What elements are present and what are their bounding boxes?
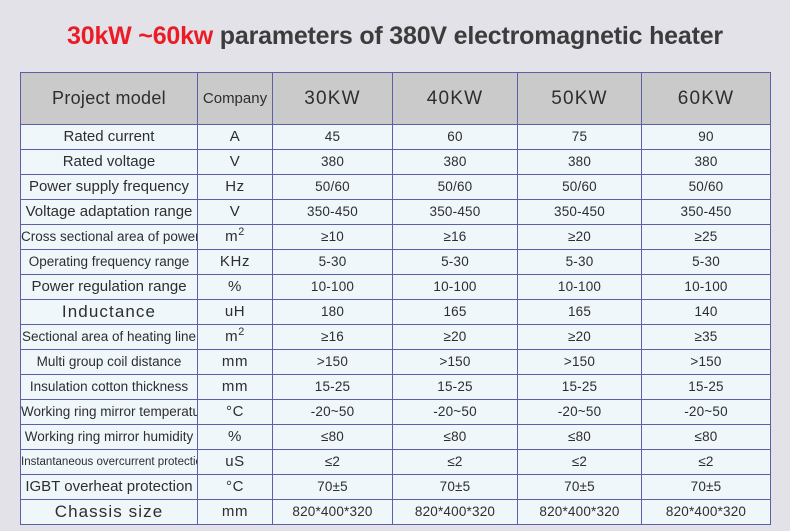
cell-value: 180 bbox=[273, 300, 393, 325]
cell-parameter: Rated current bbox=[21, 125, 198, 150]
table-header: Project model Company 30KW 40KW 50KW 60K… bbox=[21, 73, 771, 125]
cell-value: 165 bbox=[518, 300, 642, 325]
cell-value: 10-100 bbox=[273, 275, 393, 300]
table-row: Rated currentA45607590 bbox=[21, 125, 771, 150]
cell-value: 50/60 bbox=[642, 175, 771, 200]
cell-unit: % bbox=[198, 275, 273, 300]
cell-value: 50/60 bbox=[273, 175, 393, 200]
table-row: Power regulation range%10-10010-10010-10… bbox=[21, 275, 771, 300]
cell-unit: V bbox=[198, 150, 273, 175]
title-bar: 30kW ~60kw parameters of 380V electromag… bbox=[0, 0, 790, 72]
cell-value: -20~50 bbox=[393, 400, 518, 425]
cell-parameter: Working ring mirror temperature bbox=[21, 400, 198, 425]
cell-value: 350-450 bbox=[642, 200, 771, 225]
cell-value: 70±5 bbox=[518, 475, 642, 500]
cell-value: ≤80 bbox=[642, 425, 771, 450]
specifications-table: Project model Company 30KW 40KW 50KW 60K… bbox=[20, 72, 771, 525]
cell-value: 5-30 bbox=[273, 250, 393, 275]
cell-unit: m2 bbox=[198, 325, 273, 350]
header-project-model: Project model bbox=[21, 73, 198, 125]
cell-unit: uS bbox=[198, 450, 273, 475]
cell-value: 50/60 bbox=[518, 175, 642, 200]
cell-value: 45 bbox=[273, 125, 393, 150]
cell-unit: V bbox=[198, 200, 273, 225]
cell-value: ≤2 bbox=[393, 450, 518, 475]
header-model-30kw: 30KW bbox=[273, 73, 393, 125]
cell-value: 820*400*320 bbox=[518, 500, 642, 525]
cell-value: ≥16 bbox=[393, 225, 518, 250]
cell-value: 380 bbox=[393, 150, 518, 175]
cell-unit: A bbox=[198, 125, 273, 150]
cell-value: ≥20 bbox=[518, 225, 642, 250]
cell-value: ≤2 bbox=[642, 450, 771, 475]
spec-table-container: Project model Company 30KW 40KW 50KW 60K… bbox=[20, 72, 770, 525]
cell-value: ≥10 bbox=[273, 225, 393, 250]
cell-parameter: Multi group coil distance bbox=[21, 350, 198, 375]
cell-unit: m2 bbox=[198, 225, 273, 250]
cell-parameter: Working ring mirror humidity bbox=[21, 425, 198, 450]
cell-value: 380 bbox=[642, 150, 771, 175]
cell-value: 50/60 bbox=[393, 175, 518, 200]
table-row: Power supply frequencyHz50/6050/6050/605… bbox=[21, 175, 771, 200]
cell-value: 10-100 bbox=[642, 275, 771, 300]
cell-unit: Hz bbox=[198, 175, 273, 200]
page-title-rest: parameters of 380V electromagnetic heate… bbox=[213, 22, 723, 50]
table-row: Voltage adaptation rangeV350-450350-4503… bbox=[21, 200, 771, 225]
cell-unit: mm bbox=[198, 350, 273, 375]
header-model-40kw: 40KW bbox=[393, 73, 518, 125]
cell-parameter: Operating frequency range bbox=[21, 250, 198, 275]
cell-parameter: Sectional area of heating line bbox=[21, 325, 198, 350]
cell-value: 60 bbox=[393, 125, 518, 150]
table-row: Chassis sizemm820*400*320820*400*320820*… bbox=[21, 500, 771, 525]
table-row: IGBT overheat protection°C70±570±570±570… bbox=[21, 475, 771, 500]
cell-parameter: Insulation cotton thickness bbox=[21, 375, 198, 400]
header-company: Company bbox=[198, 73, 273, 125]
header-row: Project model Company 30KW 40KW 50KW 60K… bbox=[21, 73, 771, 125]
cell-value: ≥35 bbox=[642, 325, 771, 350]
cell-value: 90 bbox=[642, 125, 771, 150]
cell-value: 10-100 bbox=[393, 275, 518, 300]
cell-value: 15-25 bbox=[273, 375, 393, 400]
cell-unit: uH bbox=[198, 300, 273, 325]
cell-unit: % bbox=[198, 425, 273, 450]
table-row: Multi group coil distancemm>150>150>150>… bbox=[21, 350, 771, 375]
cell-value: >150 bbox=[393, 350, 518, 375]
cell-parameter: Power supply frequency bbox=[21, 175, 198, 200]
cell-unit: °C bbox=[198, 475, 273, 500]
cell-value: ≤80 bbox=[273, 425, 393, 450]
cell-value: ≥20 bbox=[518, 325, 642, 350]
cell-value: 350-450 bbox=[518, 200, 642, 225]
table-row: Operating frequency rangeKHz5-305-305-30… bbox=[21, 250, 771, 275]
cell-value: 75 bbox=[518, 125, 642, 150]
cell-value: 820*400*320 bbox=[642, 500, 771, 525]
cell-value: ≤80 bbox=[518, 425, 642, 450]
cell-parameter: Inductance bbox=[21, 300, 198, 325]
cell-value: ≥25 bbox=[642, 225, 771, 250]
cell-value: ≥16 bbox=[273, 325, 393, 350]
cell-value: 5-30 bbox=[642, 250, 771, 275]
header-model-50kw: 50KW bbox=[518, 73, 642, 125]
table-row: Rated voltageV380380380380 bbox=[21, 150, 771, 175]
cell-parameter: Voltage adaptation range bbox=[21, 200, 198, 225]
cell-value: 70±5 bbox=[642, 475, 771, 500]
page-title-accent: 30kW ~60kw bbox=[67, 22, 213, 50]
cell-value: 10-100 bbox=[518, 275, 642, 300]
cell-value: -20~50 bbox=[642, 400, 771, 425]
table-row: Cross sectional area of power linem2≥10≥… bbox=[21, 225, 771, 250]
cell-parameter: Chassis size bbox=[21, 500, 198, 525]
cell-value: 350-450 bbox=[393, 200, 518, 225]
cell-value: 15-25 bbox=[518, 375, 642, 400]
cell-unit: mm bbox=[198, 375, 273, 400]
cell-parameter: Cross sectional area of power line bbox=[21, 225, 198, 250]
cell-value: ≤2 bbox=[273, 450, 393, 475]
cell-value: 820*400*320 bbox=[273, 500, 393, 525]
cell-value: >150 bbox=[273, 350, 393, 375]
cell-value: 70±5 bbox=[273, 475, 393, 500]
table-row: Sectional area of heating linem2≥16≥20≥2… bbox=[21, 325, 771, 350]
cell-value: 350-450 bbox=[273, 200, 393, 225]
cell-value: 5-30 bbox=[518, 250, 642, 275]
table-body: Rated currentA45607590Rated voltageV3803… bbox=[21, 125, 771, 525]
table-row: Working ring mirror humidity%≤80≤80≤80≤8… bbox=[21, 425, 771, 450]
cell-value: 5-30 bbox=[393, 250, 518, 275]
cell-parameter: Rated voltage bbox=[21, 150, 198, 175]
table-row: Insulation cotton thicknessmm15-2515-251… bbox=[21, 375, 771, 400]
table-row: Working ring mirror temperature°C-20~50-… bbox=[21, 400, 771, 425]
cell-value: 380 bbox=[273, 150, 393, 175]
cell-value: 15-25 bbox=[393, 375, 518, 400]
cell-value: >150 bbox=[518, 350, 642, 375]
cell-value: 140 bbox=[642, 300, 771, 325]
page-title: 30kW ~60kw parameters of 380V electromag… bbox=[67, 22, 723, 51]
cell-value: 165 bbox=[393, 300, 518, 325]
table-row: InductanceuH180165165140 bbox=[21, 300, 771, 325]
cell-value: -20~50 bbox=[273, 400, 393, 425]
cell-value: ≤80 bbox=[393, 425, 518, 450]
header-model-60kw: 60KW bbox=[642, 73, 771, 125]
cell-parameter: IGBT overheat protection bbox=[21, 475, 198, 500]
table-row: Instantaneous overcurrent protection tim… bbox=[21, 450, 771, 475]
cell-parameter: Power regulation range bbox=[21, 275, 198, 300]
cell-unit: mm bbox=[198, 500, 273, 525]
cell-value: 380 bbox=[518, 150, 642, 175]
cell-unit: KHz bbox=[198, 250, 273, 275]
cell-parameter: Instantaneous overcurrent protection tim… bbox=[21, 450, 198, 475]
cell-value: >150 bbox=[642, 350, 771, 375]
cell-value: ≤2 bbox=[518, 450, 642, 475]
cell-value: 15-25 bbox=[642, 375, 771, 400]
cell-unit: °C bbox=[198, 400, 273, 425]
cell-value: 70±5 bbox=[393, 475, 518, 500]
cell-value: ≥20 bbox=[393, 325, 518, 350]
cell-value: 820*400*320 bbox=[393, 500, 518, 525]
cell-value: -20~50 bbox=[518, 400, 642, 425]
